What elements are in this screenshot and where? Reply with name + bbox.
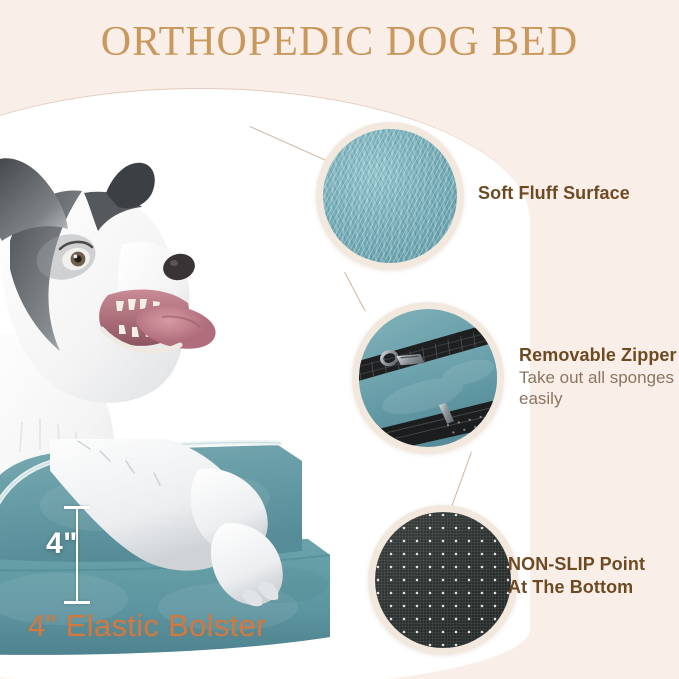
feature-zipper-heading: Removable Zipper	[519, 344, 679, 367]
zipper-photo	[359, 309, 497, 447]
page-title: ORTHOPEDIC DOG BED	[0, 18, 679, 66]
dimension-cap-top	[64, 506, 90, 509]
feature-swatch-fluff	[316, 122, 464, 270]
feature-label-fluff: Soft Fluff Surface	[478, 182, 630, 205]
feature-swatch-nonslip	[368, 505, 518, 655]
feature-label-zipper: Removable Zipper Take out all sponges ea…	[519, 344, 679, 410]
product-infographic-poster: ORTHOPEDIC DOG BED	[0, 0, 679, 679]
feature-zipper-subtext: Take out all sponges easily	[519, 367, 679, 411]
feature-swatch-zipper	[352, 302, 504, 454]
bolster-caption: 4" Elastic Bolster	[28, 608, 267, 644]
fluff-texture	[323, 129, 457, 263]
nonslip-texture	[375, 512, 511, 648]
feature-nonslip-heading-line1: NON-SLIP Point	[508, 553, 645, 576]
feature-label-nonslip: NON-SLIP Point At The Bottom	[508, 553, 645, 598]
bolster-height-label: 4"	[46, 527, 78, 561]
feature-fluff-heading: Soft Fluff Surface	[478, 182, 630, 205]
dimension-cap-bottom	[64, 601, 90, 604]
feature-nonslip-heading-line2: At The Bottom	[508, 576, 645, 599]
